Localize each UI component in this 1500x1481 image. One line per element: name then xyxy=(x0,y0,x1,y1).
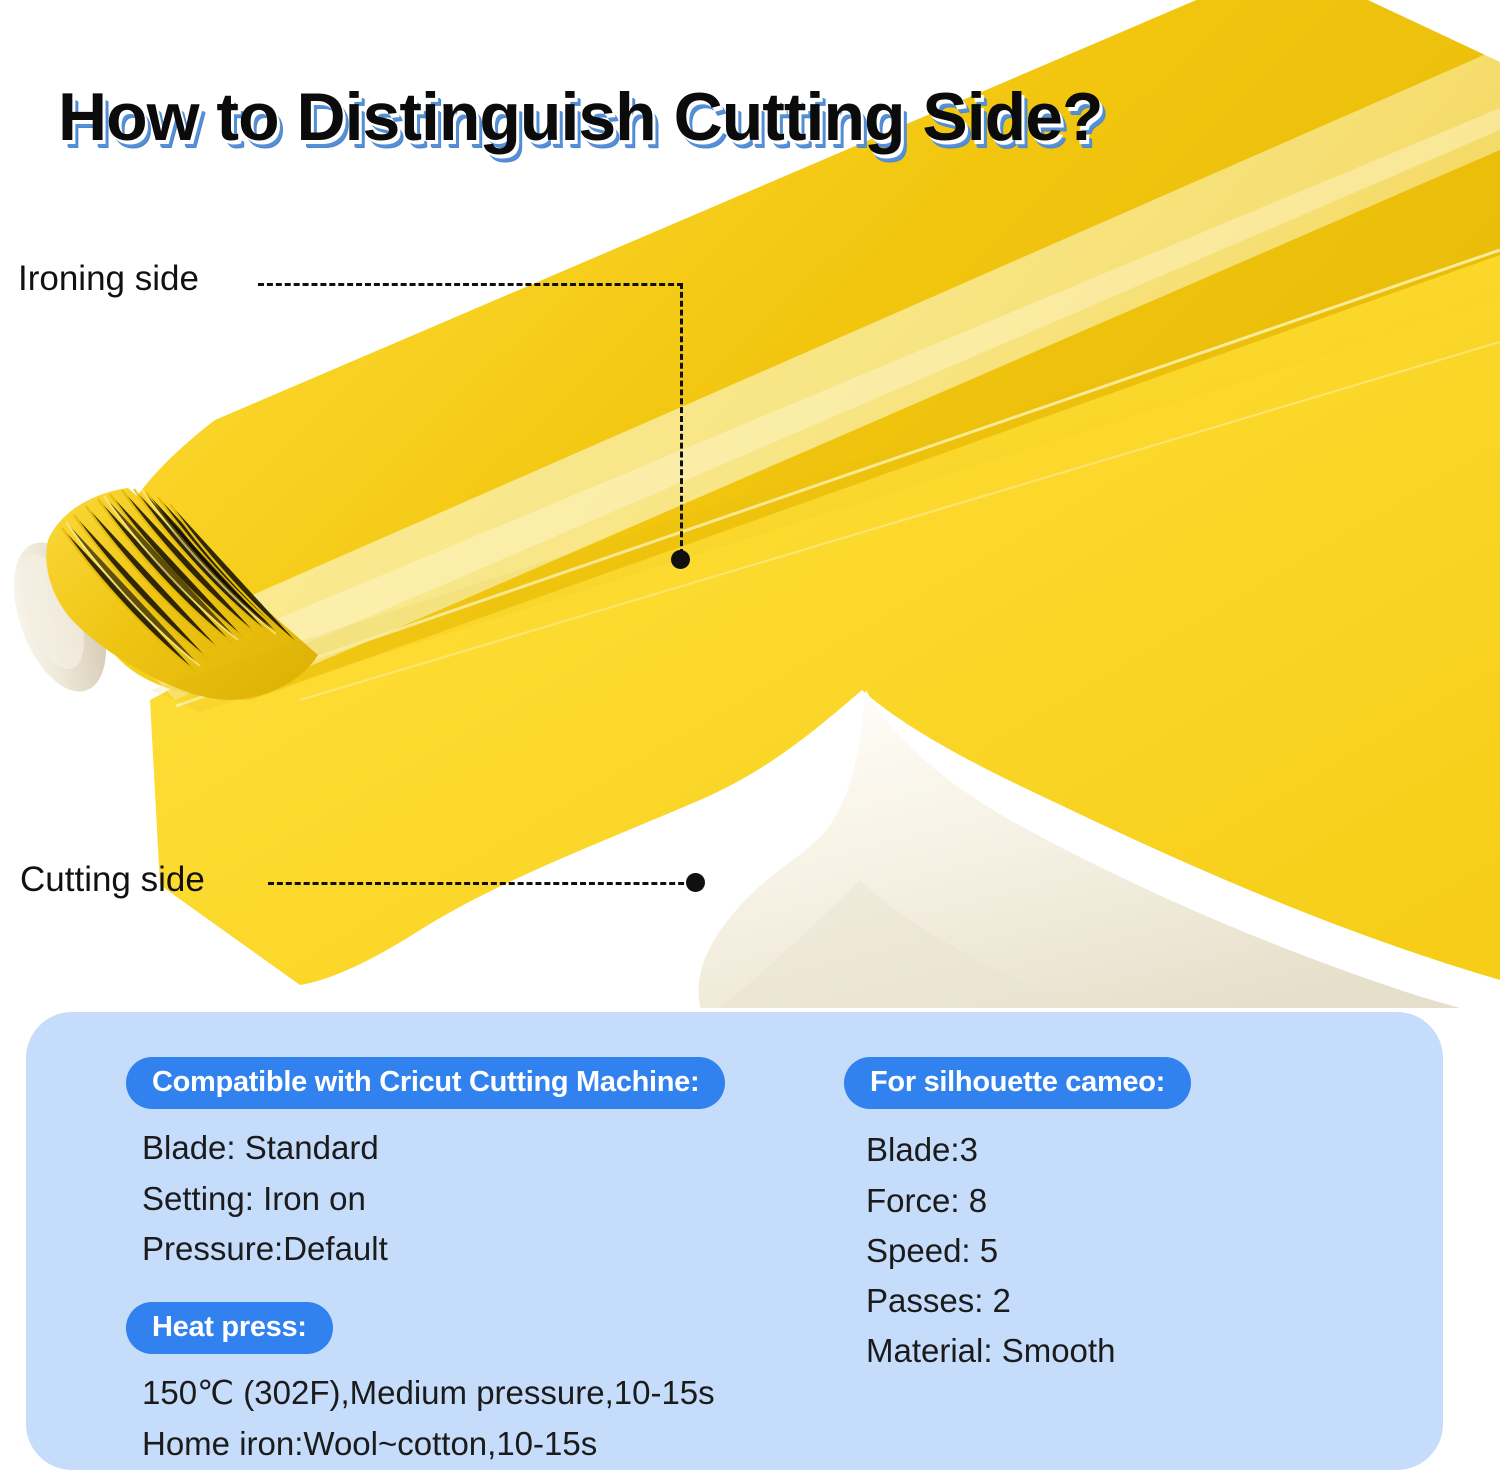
callout-label-ironing-side: Ironing side xyxy=(18,259,199,299)
spec-list-silhouette: Blade:3 Force: 8 Speed: 5 Passes: 2 Mate… xyxy=(844,1125,1436,1376)
badge-silhouette-cameo: For silhouette cameo: xyxy=(844,1057,1191,1109)
spec-list-cricut: Blade: Standard Setting: Iron on Pressur… xyxy=(126,1123,816,1273)
specs-column-cricut: Compatible with Cricut Cutting Machine: … xyxy=(26,1012,816,1470)
callout-leader-horizontal-cutting xyxy=(268,882,693,885)
callout-dot-cutting xyxy=(686,873,705,892)
spec-item: Setting: Iron on xyxy=(126,1174,816,1224)
spec-item: Blade:3 xyxy=(850,1125,1436,1175)
spec-item: Force: 8 xyxy=(850,1176,1436,1226)
infographic-page: How to Distinguish Cutting Side? Ironing… xyxy=(0,0,1500,1481)
spec-item: Pressure:Default xyxy=(126,1224,816,1274)
spec-item: Speed: 5 xyxy=(850,1226,1436,1276)
spec-item: Blade: Standard xyxy=(126,1123,816,1173)
specs-column-silhouette: For silhouette cameo: Blade:3 Force: 8 S… xyxy=(816,1012,1436,1470)
callout-leader-horizontal-ironing xyxy=(258,283,683,286)
heat-press-badge-wrap: Heat press: xyxy=(126,1302,816,1354)
page-title: How to Distinguish Cutting Side? xyxy=(58,78,1103,156)
badge-heat-press: Heat press: xyxy=(126,1302,333,1354)
spec-item: 150℃ (302F),Medium pressure,10-15s xyxy=(126,1368,816,1418)
spec-item: Material: Smooth xyxy=(850,1326,1436,1376)
specs-panel: Compatible with Cricut Cutting Machine: … xyxy=(26,1012,1443,1470)
spec-item: Home iron:Wool~cotton,10-15s xyxy=(126,1419,816,1469)
callout-leader-vertical-ironing xyxy=(680,283,683,555)
badge-cricut-compatible: Compatible with Cricut Cutting Machine: xyxy=(126,1057,725,1109)
spec-item: Passes: 2 xyxy=(850,1276,1436,1326)
spec-list-heat-press: 150℃ (302F),Medium pressure,10-15s Home … xyxy=(126,1368,816,1468)
callout-dot-ironing xyxy=(671,550,690,569)
callout-label-cutting-side: Cutting side xyxy=(20,860,205,900)
